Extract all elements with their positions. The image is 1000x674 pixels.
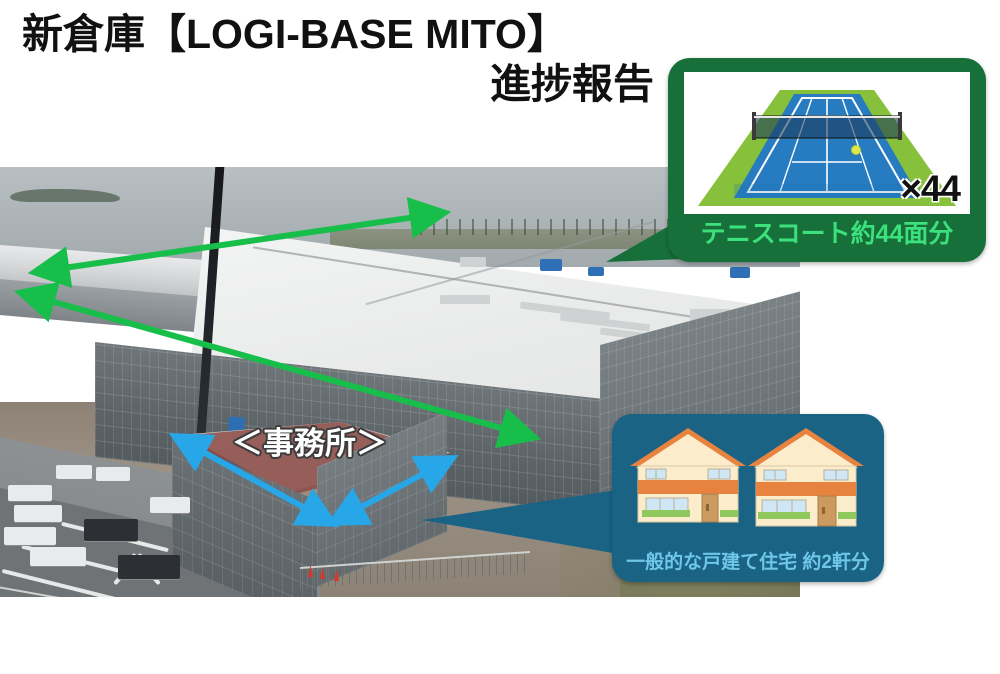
office-area-label: ＜事務所＞ [232,418,387,463]
parked-vehicle [8,485,52,501]
house-illustrations [622,422,874,542]
parked-vehicle [14,505,62,522]
roof-material [440,295,490,304]
parked-vehicle [96,467,130,481]
parked-vehicle [4,527,56,545]
house-comparison-callout: 一般的な戸建て住宅 約2軒分 [612,414,884,582]
detached-house-icon [622,422,874,542]
tennis-multiplier: ×44 [900,168,960,210]
truck [118,555,180,579]
page-title: 新倉庫【LOGI-BASE MITO】 進捗報告 [22,12,672,108]
house-callout-tail [420,480,630,570]
tennis-court-callout: ×44 テニスコート約44面分 [668,58,986,262]
roof-material-blue [540,259,562,271]
parked-vehicle [56,465,92,479]
parked-vehicle-dark [84,519,138,541]
title-line-secondary: 進捗報告 [22,62,672,108]
roof-material [460,257,486,267]
parked-vehicle [30,547,86,566]
house-caption: 一般的な戸建て住宅 約2軒分 [612,547,884,574]
title-line-primary: 新倉庫【LOGI-BASE MITO】 [22,12,672,58]
tennis-caption: テニスコート約44面分 [668,214,986,250]
tennis-court-image: ×44 [684,72,970,214]
parked-vehicle [150,497,190,513]
